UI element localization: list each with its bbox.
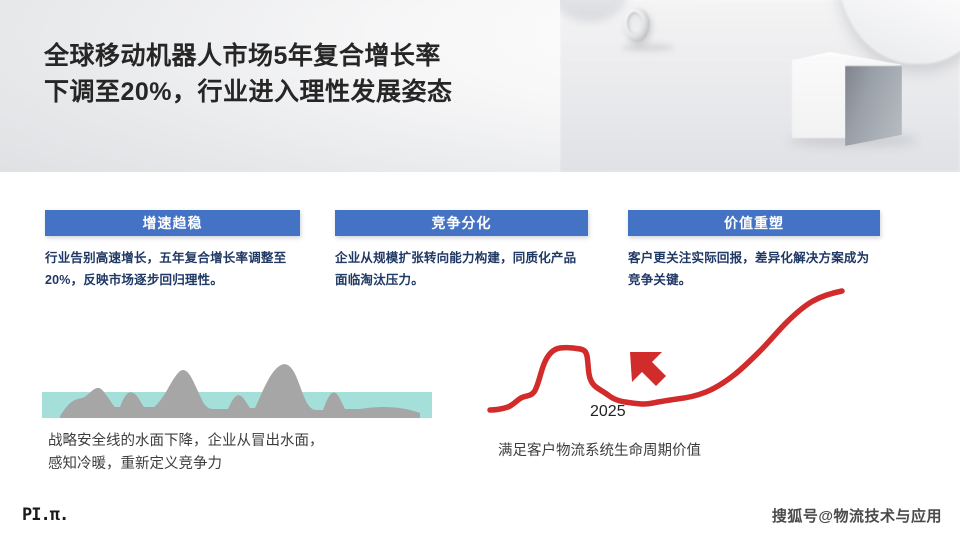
card-heading-competition: 竞争分化 (335, 210, 588, 236)
slide-root: 全球移动机器人市场5年复合增长率 下调至20%，行业进入理性发展姿态 增速趋稳 … (0, 0, 960, 540)
mountain-figure-caption: 战略安全线的水面下降，企业从冒出水面， 感知冷暖，重新定义竞争力 (48, 430, 448, 476)
card-body-growth: 行业告别高速增长，五年复合增长率调整至20%，反映市场逐步回归理性。 (45, 247, 300, 291)
dip-annotation-arrow (630, 352, 666, 386)
photo-cube-front-face (792, 60, 846, 138)
page-title: 全球移动机器人市场5年复合增长率 下调至20%，行业进入理性发展姿态 (44, 38, 564, 110)
insight-card-growth: 增速趋稳 行业告别高速增长，五年复合增长率调整至20%，反映市场逐步回归理性。 (45, 210, 300, 291)
card-heading-value: 价值重塑 (628, 210, 880, 236)
curve-figure-caption: 满足客户物流系统生命周期价值 (498, 440, 918, 462)
card-heading-growth: 增速趋稳 (45, 210, 300, 236)
mountain-waterline-figure (42, 352, 432, 424)
header-decorative-photo (560, 0, 960, 172)
growth-curve-line (490, 291, 842, 410)
photo-cube-side-face (845, 66, 902, 146)
mountain-silhouette (60, 364, 420, 418)
photo-ring-shape (624, 8, 650, 42)
photo-ring-shadow (622, 44, 674, 51)
brand-logo: PI.π. (22, 505, 68, 525)
source-watermark: 搜狐号@物流技术与应用 (772, 505, 942, 526)
growth-curve-chart (480, 268, 930, 418)
header-banner: 全球移动机器人市场5年复合增长率 下调至20%，行业进入理性发展姿态 (0, 0, 960, 172)
curve-year-label: 2025 (590, 403, 626, 421)
